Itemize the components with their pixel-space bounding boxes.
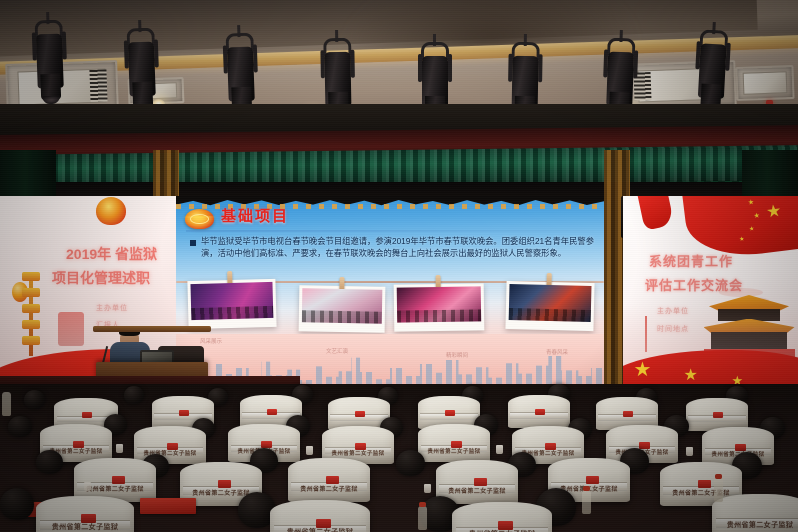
chair-red-tab <box>545 443 556 450</box>
spotlight-lens <box>42 96 60 105</box>
chair-name-tag: 贵州省第二女子监狱 <box>436 486 518 495</box>
chair-red-tab <box>316 519 331 528</box>
audience-chair: 贵州省第二女子监狱 <box>288 458 370 502</box>
slide-title-rule <box>186 230 594 232</box>
flag-star-large: ★ <box>765 202 782 221</box>
spotlight-arm <box>633 50 638 78</box>
left-screen-line1: 2019年 省监狱 <box>66 244 157 264</box>
pagoda-tier <box>22 336 40 345</box>
group-chorus-photo <box>302 288 383 323</box>
water-bottle <box>418 506 427 530</box>
chair-red-tab <box>355 411 365 417</box>
skyline-label: 青春风采 <box>546 348 568 356</box>
list-item <box>187 279 276 329</box>
chair-name-tag: 贵州省第二女子监狱 <box>418 447 490 455</box>
pagoda-tier <box>22 304 40 313</box>
list-item <box>394 283 485 331</box>
water-cup <box>116 444 123 453</box>
chair-red-tab <box>639 442 650 449</box>
spotlight-arm <box>350 50 354 78</box>
audience-head <box>396 450 425 476</box>
spotlight-arm <box>448 54 452 82</box>
chair-red-tab <box>167 443 178 450</box>
ribbon-star: ★ <box>634 360 652 380</box>
audience-chair: 贵州省第二女子监狱 <box>452 502 552 532</box>
skyline-label: 文艺汇演 <box>326 347 348 355</box>
chair-red-tab <box>623 411 633 417</box>
audience-head <box>24 390 45 409</box>
audience-head <box>0 488 34 520</box>
photo-silhouette <box>509 308 591 322</box>
bottle-cap <box>715 474 722 479</box>
audience-stage-photo <box>509 284 592 322</box>
flag-star-small: ★ <box>748 199 755 207</box>
chair-red-tab <box>698 480 711 488</box>
audience-chair <box>508 395 570 428</box>
right-led-screen: ★ ★ ★ ★ ★ 系统团青工作 评估工作交流会 主办单位 时间地点 ★ ★ ★ <box>623 196 798 394</box>
left-screen-seal-graphic <box>58 312 84 346</box>
audience-chair: 贵州省第二女子监狱 <box>270 500 370 532</box>
pagoda-tier <box>22 272 40 281</box>
stage-spotlight <box>28 19 71 112</box>
spotlight-arm <box>538 54 542 82</box>
skyline-label: 精彩瞬间 <box>446 351 468 359</box>
chair-red-tab <box>498 521 513 530</box>
chair-red-tab <box>535 409 545 415</box>
photo-silhouette <box>397 310 481 323</box>
flag-fold-accent <box>638 196 675 231</box>
ac-vent-panel <box>742 71 787 95</box>
water-bottle <box>714 478 723 502</box>
ac-vent-louvre <box>90 70 108 102</box>
chair-name-tag: 贵州省第二女子监狱 <box>288 484 370 493</box>
chair-red-tab <box>267 409 277 415</box>
chair-red-tab <box>179 410 189 416</box>
main-presentation-screen: 基础项目 毕节监狱受毕节市电视台春节晚会节目组邀请，参演2019年毕节市春节联欢… <box>176 196 604 392</box>
slide-body-text: 毕节监狱受毕节市电视台春节晚会节目组邀请，参演2019年毕节市春节联欢晚会。团委… <box>201 236 594 260</box>
pagoda-tower-illustration <box>22 272 40 356</box>
podium-desktop-edge <box>93 326 211 332</box>
right-screen-line2: 评估工作交流会 <box>645 275 743 294</box>
chair-red-tab <box>451 441 462 448</box>
list-item <box>505 281 594 331</box>
chair-red-tab <box>218 480 231 488</box>
ceiling-ac-vent <box>735 65 794 101</box>
chair-red-tab <box>112 476 125 484</box>
red-document-folder <box>140 498 196 514</box>
water-cup <box>424 484 431 493</box>
chair-name-tag: 贵州省第二女子监狱 <box>36 522 134 532</box>
chair-name-tag: 贵州省第二女子监狱 <box>712 520 798 530</box>
audience-head <box>8 416 32 437</box>
audience-chair: 贵州省第二女子监狱 <box>36 496 134 532</box>
flag-star-small: ★ <box>753 213 760 221</box>
chair-red-tab <box>73 441 84 448</box>
auditorium-photo: 2019年 省监狱 项目化管理述职 主办单位 汇报人 基础项目 毕节监狱受毕节 <box>0 0 798 532</box>
bullet-marker <box>190 240 196 246</box>
chair-red-tab <box>261 441 272 448</box>
list-item <box>299 285 386 332</box>
water-cup <box>496 445 503 454</box>
audience-head <box>124 386 144 404</box>
right-screen-line1: 系统团青工作 <box>649 251 733 270</box>
chair-name-tag: 贵州省第二女子监狱 <box>134 449 206 457</box>
emblem-ring <box>190 214 210 225</box>
bottle-cap <box>583 486 590 491</box>
ribbon-star: ★ <box>684 368 698 384</box>
water-bottle <box>582 490 591 514</box>
stage-lighting-photo <box>397 286 481 322</box>
photo-silhouette <box>302 311 382 324</box>
audience-seating: 贵州省第二女子监狱 贵州省第二女子监狱 贵州省第二女子监狱 贵州省第二女子监狱 … <box>0 384 798 532</box>
photo-silhouette <box>191 306 273 320</box>
youth-league-emblem-icon <box>185 207 214 232</box>
pagoda-tier <box>22 320 40 329</box>
chair-red-tab <box>326 476 339 484</box>
water-bottle <box>2 392 11 416</box>
water-cup <box>686 447 693 456</box>
chair-red-tab <box>82 412 92 418</box>
audience-chair: 贵州省第二女子监狱 <box>712 494 798 532</box>
water-cup <box>306 446 313 455</box>
slide-bullet: 毕节监狱受毕节市电视台春节晚会节目组邀请，参演2019年毕节市春节联欢晚会。团委… <box>190 236 594 260</box>
party-emblem-icon <box>96 197 126 225</box>
chair-red-tab <box>355 443 366 450</box>
audience-chair: 贵州省第二女子监狱 <box>418 424 490 462</box>
chair-red-tab <box>713 412 723 418</box>
water-cup <box>84 482 91 491</box>
chair-name-tag: 贵州省第二女子监狱 <box>322 449 394 457</box>
slide-title: 基础项目 <box>221 205 289 226</box>
chair-red-tab <box>586 476 599 484</box>
chair-red-tab <box>474 478 487 486</box>
audience-head <box>36 450 63 474</box>
stage-performance-photo <box>190 282 273 320</box>
chair-red-tab <box>81 514 96 523</box>
left-screen-line3: 主办单位 <box>96 303 128 313</box>
pagoda-tier <box>22 288 40 297</box>
left-screen-line2: 项目化管理述职 <box>52 268 150 288</box>
bottle-cap <box>419 502 426 507</box>
flag-star-small: ★ <box>739 237 745 244</box>
chair-red-tab <box>445 410 455 416</box>
flag-star-small: ★ <box>749 226 755 233</box>
chair-red-tab <box>735 444 746 451</box>
